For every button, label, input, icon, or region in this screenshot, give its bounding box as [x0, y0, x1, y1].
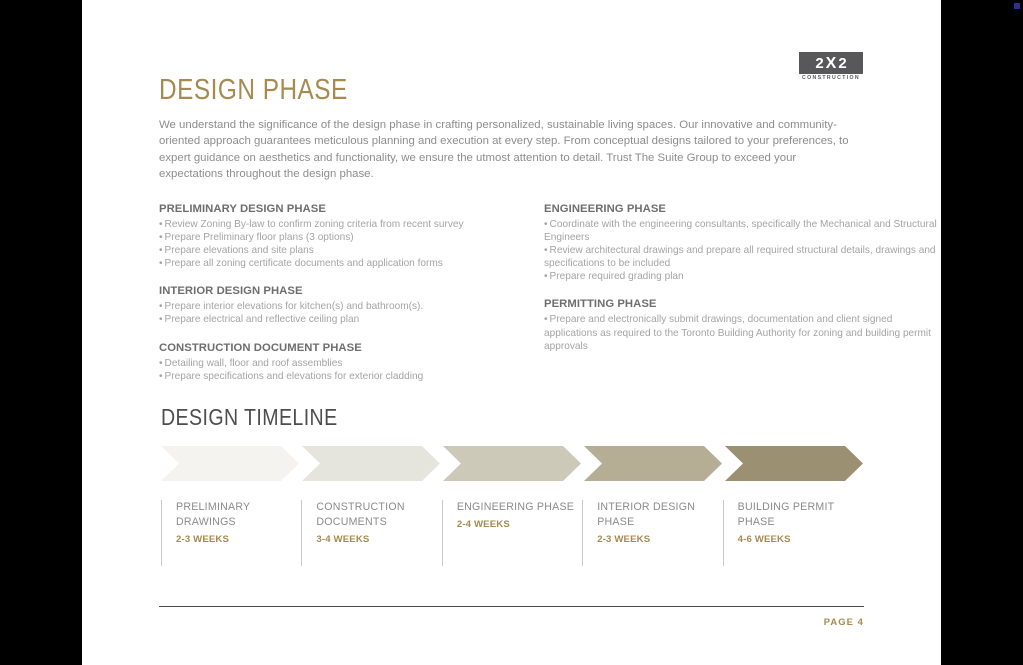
timeline-step-name: INTERIOR DESIGN PHASE: [597, 500, 722, 530]
phase-title: ENGINEERING PHASE: [544, 202, 944, 217]
timeline-step: ENGINEERING PHASE2-4 WEEKS: [442, 500, 582, 566]
document-page: 2 X 2 CONSTRUCTION DESIGN PHASE We under…: [82, 0, 941, 665]
bullet-icon: •: [159, 258, 163, 269]
timeline-labels: PRELIMINARY DRAWINGS2-3 WEEKSCONSTRUCTIO…: [161, 500, 863, 566]
page-title: DESIGN PHASE: [159, 73, 348, 107]
timeline-chevron: [443, 446, 581, 481]
phase-bullet-item: •Prepare electrical and reflective ceili…: [159, 313, 559, 326]
phase-bullet-item: •Prepare interior elevations for kitchen…: [159, 300, 559, 313]
phase-bullet-text: Prepare all zoning certificate documents…: [165, 258, 443, 269]
bullet-icon: •: [159, 314, 163, 325]
bullet-icon: •: [544, 245, 548, 256]
timeline-step: INTERIOR DESIGN PHASE2-3 WEEKS: [582, 500, 722, 566]
phase-bullet-text: Review Zoning By-law to confirm zoning c…: [165, 219, 464, 230]
phase-bullet-item: •Prepare elevations and site plans: [159, 244, 559, 257]
phase-column-right: ENGINEERING PHASE•Coordinate with the en…: [544, 202, 944, 367]
phase-bullet-item: •Prepare all zoning certificate document…: [159, 257, 559, 270]
phase-bullet-text: Prepare and electronically submit drawin…: [544, 314, 931, 351]
phase-bullet-item: •Review architectural drawings and prepa…: [544, 244, 944, 270]
bullet-icon: •: [544, 314, 548, 325]
phase-bullet-text: Detailing wall, floor and roof assemblie…: [165, 358, 343, 369]
company-logo: 2 X 2 CONSTRUCTION: [799, 52, 863, 82]
phase-bullet-text: Prepare Preliminary floor plans (3 optio…: [165, 232, 354, 243]
bullet-icon: •: [159, 245, 163, 256]
timeline-step-name: BUILDING PERMIT PHASE: [738, 500, 863, 530]
phase-bullet-item: •Prepare specifications and elevations f…: [159, 370, 559, 383]
timeline-step-duration: 4-6 WEEKS: [738, 533, 863, 546]
phase-block: PRELIMINARY DESIGN PHASE•Review Zoning B…: [159, 202, 559, 270]
phase-bullet-text: Prepare interior elevations for kitchen(…: [165, 301, 424, 312]
timeline-chevron: [302, 446, 440, 481]
timeline-step: CONSTRUCTION DOCUMENTS3-4 WEEKS: [301, 500, 441, 566]
bullet-icon: •: [159, 371, 163, 382]
phase-column-left: PRELIMINARY DESIGN PHASE•Review Zoning B…: [159, 202, 559, 397]
timeline-chevron: [725, 446, 863, 481]
timeline-heading: DESIGN TIMELINE: [161, 403, 338, 431]
logo-char-left: 2: [815, 56, 823, 71]
bullet-icon: •: [159, 219, 163, 230]
bullet-icon: •: [159, 358, 163, 369]
phase-bullet-text: Coordinate with the engineering consulta…: [544, 219, 937, 243]
phase-bullet-item: •Prepare required grading plan: [544, 270, 944, 283]
phase-bullet-text: Prepare required grading plan: [550, 271, 684, 282]
phase-block: CONSTRUCTION DOCUMENT PHASE•Detailing wa…: [159, 341, 559, 383]
phase-bullet-text: Prepare specifications and elevations fo…: [165, 371, 424, 382]
phase-bullet-text: Prepare elevations and site plans: [165, 245, 314, 256]
phase-bullet-text: Prepare electrical and reflective ceilin…: [165, 314, 360, 325]
timeline-step-duration: 2-4 WEEKS: [457, 518, 582, 531]
footer-divider: [159, 606, 864, 607]
phase-bullet-item: •Coordinate with the engineering consult…: [544, 218, 944, 244]
phase-bullet-item: •Prepare and electronically submit drawi…: [544, 313, 944, 352]
phase-title: INTERIOR DESIGN PHASE: [159, 284, 559, 299]
timeline-step-name: ENGINEERING PHASE: [457, 500, 582, 515]
phase-bullet-item: •Prepare Preliminary floor plans (3 opti…: [159, 231, 559, 244]
timeline-step-name: CONSTRUCTION DOCUMENTS: [316, 500, 441, 530]
timeline-step-duration: 2-3 WEEKS: [176, 533, 301, 546]
timeline-step-duration: 2-3 WEEKS: [597, 533, 722, 546]
bullet-icon: •: [544, 219, 548, 230]
timeline-step-duration: 3-4 WEEKS: [316, 533, 441, 546]
page-number: PAGE 4: [682, 615, 864, 628]
phase-bullet-item: •Detailing wall, floor and roof assembli…: [159, 357, 559, 370]
bullet-icon: •: [159, 301, 163, 312]
phase-title: CONSTRUCTION DOCUMENT PHASE: [159, 341, 559, 356]
phase-title: PRELIMINARY DESIGN PHASE: [159, 202, 559, 217]
phase-block: PERMITTING PHASE•Prepare and electronica…: [544, 297, 944, 352]
cursor-dot: [1014, 3, 1020, 9]
screenshot-canvas: 2 X 2 CONSTRUCTION DESIGN PHASE We under…: [0, 0, 1023, 665]
phase-title: PERMITTING PHASE: [544, 297, 944, 312]
phase-bullet-text: Review architectural drawings and prepar…: [544, 245, 936, 269]
logo-char-x: X: [826, 56, 837, 71]
timeline-chevrons: [161, 446, 863, 481]
timeline-step: BUILDING PERMIT PHASE4-6 WEEKS: [723, 500, 863, 566]
phase-block: ENGINEERING PHASE•Coordinate with the en…: [544, 202, 944, 283]
timeline-step: PRELIMINARY DRAWINGS2-3 WEEKS: [161, 500, 301, 566]
timeline-step-name: PRELIMINARY DRAWINGS: [176, 500, 301, 530]
logo-char-right: 2: [838, 56, 846, 71]
logo-mark: 2 X 2: [799, 52, 863, 74]
intro-paragraph: We understand the significance of the de…: [159, 117, 859, 183]
phase-bullet-item: •Review Zoning By-law to confirm zoning …: [159, 218, 559, 231]
bullet-icon: •: [544, 271, 548, 282]
timeline-chevron: [584, 446, 722, 481]
bullet-icon: •: [159, 232, 163, 243]
phase-block: INTERIOR DESIGN PHASE•Prepare interior e…: [159, 284, 559, 326]
logo-subtitle: CONSTRUCTION: [799, 75, 863, 82]
timeline-chevron: [161, 446, 299, 481]
